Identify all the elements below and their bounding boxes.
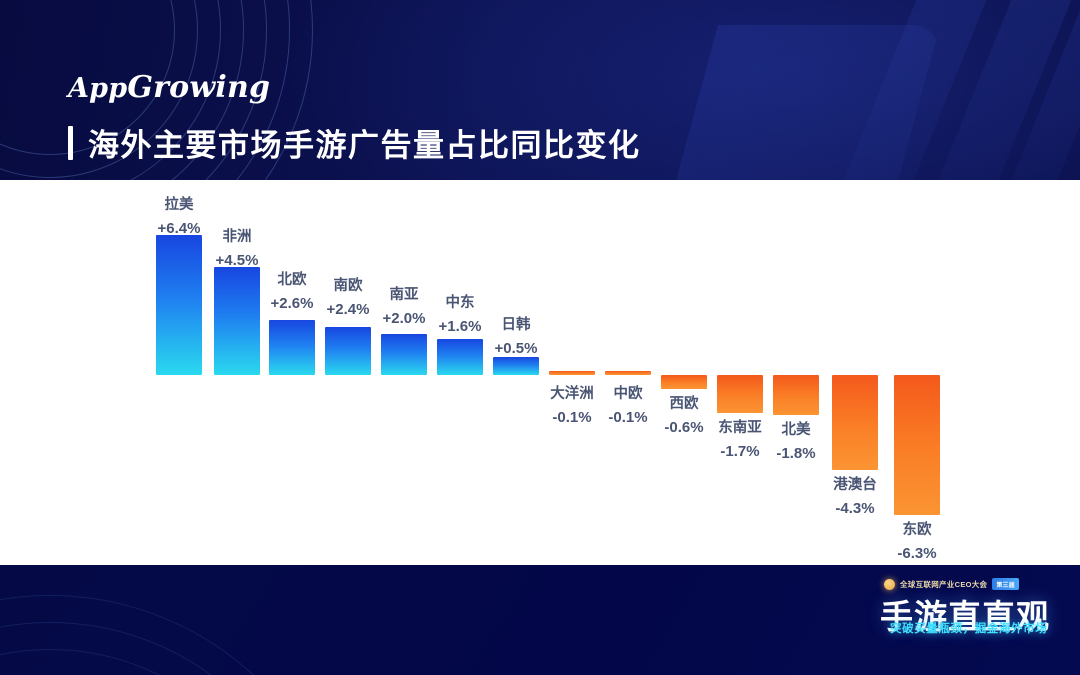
content-panel: 拉美+6.4%非洲+4.5%北欧+2.6%南欧+2.4%南亚+2.0%中东+1.… <box>0 180 1080 565</box>
bar-group[interactable]: 南亚+2.0% <box>375 180 433 565</box>
bar-value-label: +0.5% <box>487 339 545 359</box>
bar-group[interactable]: 港澳台-4.3% <box>826 180 884 565</box>
bar-value-label: -0.1% <box>599 408 657 428</box>
ceo-conference-text: 全球互联网产业CEO大会 <box>900 579 987 590</box>
bar-label: 南欧+2.4% <box>319 277 377 320</box>
bar-value-label: -0.1% <box>543 408 601 428</box>
chart-bar[interactable] <box>832 375 878 470</box>
bar-group[interactable]: 大洋洲-0.1% <box>543 180 601 565</box>
bar-label: 拉美+6.4% <box>150 196 208 239</box>
event-logo-tagline: 突破买量瓶颈，掘金海外市场 <box>890 620 1047 636</box>
bar-group[interactable]: 拉美+6.4% <box>150 180 208 565</box>
page-title-text: 海外主要市场手游广告量占比同比变化 <box>88 120 641 165</box>
bar-value-label: +4.5% <box>208 251 266 271</box>
bar-label: 中东+1.6% <box>431 294 489 337</box>
chart-bar[interactable] <box>549 371 595 375</box>
brand-app-text: App <box>68 73 127 104</box>
ceo-conference-banner: 全球互联网产业CEO大会 第三届 <box>884 578 1019 590</box>
bar-category-name: 中欧 <box>614 386 643 402</box>
bar-label: 北美-1.8% <box>767 421 825 464</box>
bar-label: 大洋洲-0.1% <box>543 385 601 428</box>
bar-label: 南亚+2.0% <box>375 286 433 329</box>
bar-value-label: +6.4% <box>150 219 208 239</box>
bar-group[interactable]: 中欧-0.1% <box>599 180 657 565</box>
chart-bar[interactable] <box>325 327 371 375</box>
bar-value-label: -1.8% <box>767 444 825 464</box>
bar-category-name: 南亚 <box>390 287 419 303</box>
chart-bar[interactable] <box>894 375 940 515</box>
chart-bar[interactable] <box>773 375 819 415</box>
bar-label: 西欧-0.6% <box>655 395 713 438</box>
chart-bar[interactable] <box>381 334 427 375</box>
bar-group[interactable]: 非洲+4.5% <box>208 180 266 565</box>
bar-category-name: 东南亚 <box>718 420 762 436</box>
bar-category-name: 北美 <box>782 422 811 438</box>
bar-category-name: 东欧 <box>903 522 932 538</box>
bar-label: 港澳台-4.3% <box>826 476 884 519</box>
bar-value-label: +2.4% <box>319 300 377 320</box>
bar-group[interactable]: 南欧+2.4% <box>319 180 377 565</box>
bar-label: 北欧+2.6% <box>263 271 321 314</box>
chart-bar[interactable] <box>214 267 260 375</box>
bar-label: 非洲+4.5% <box>208 228 266 271</box>
chart-bar[interactable] <box>437 339 483 375</box>
conference-dot-icon <box>884 579 895 590</box>
bar-group[interactable]: 西欧-0.6% <box>655 180 713 565</box>
chart-bar[interactable] <box>156 235 202 375</box>
bar-value-label: -0.6% <box>655 418 713 438</box>
bar-chart: 拉美+6.4%非洲+4.5%北欧+2.6%南欧+2.4%南亚+2.0%中东+1.… <box>0 180 1080 565</box>
chart-bar[interactable] <box>717 375 763 413</box>
bar-category-name: 港澳台 <box>833 477 877 493</box>
chart-bar[interactable] <box>605 371 651 375</box>
bar-category-name: 中东 <box>446 295 475 311</box>
bar-label: 东欧-6.3% <box>888 521 946 564</box>
bar-value-label: -4.3% <box>826 499 884 519</box>
chart-bar[interactable] <box>493 357 539 375</box>
bar-category-name: 大洋洲 <box>550 386 594 402</box>
bar-category-name: 北欧 <box>278 272 307 288</box>
page-title: 海外主要市场手游广告量占比同比变化 <box>68 120 641 165</box>
bar-group[interactable]: 北欧+2.6% <box>263 180 321 565</box>
bar-category-name: 拉美 <box>165 197 194 213</box>
bar-group[interactable]: 中东+1.6% <box>431 180 489 565</box>
footer-arc-decoration <box>0 585 360 675</box>
bar-value-label: +1.6% <box>431 317 489 337</box>
chart-bar[interactable] <box>269 320 315 375</box>
title-accent-bar <box>68 126 73 160</box>
bar-label: 东南亚-1.7% <box>711 419 769 462</box>
brand-growing-text: Growing <box>127 70 270 105</box>
bar-group[interactable]: 北美-1.8% <box>767 180 825 565</box>
bar-label: 日韩+0.5% <box>487 316 545 359</box>
bar-group[interactable]: 东欧-6.3% <box>888 180 946 565</box>
bar-value-label: +2.0% <box>375 309 433 329</box>
bar-group[interactable]: 日韩+0.5% <box>487 180 545 565</box>
bar-category-name: 日韩 <box>502 317 531 333</box>
chart-bar[interactable] <box>661 375 707 389</box>
bar-category-name: 西欧 <box>670 396 699 412</box>
bar-label: 中欧-0.1% <box>599 385 657 428</box>
conference-edition-badge: 第三届 <box>992 578 1019 590</box>
bar-group[interactable]: 东南亚-1.7% <box>711 180 769 565</box>
bar-category-name: 南欧 <box>334 278 363 294</box>
bar-value-label: -6.3% <box>888 544 946 564</box>
bar-value-label: -1.7% <box>711 442 769 462</box>
page-header: AppGrowing 海外主要市场手游广告量占比同比变化 <box>0 0 1080 180</box>
bar-value-label: +2.6% <box>263 294 321 314</box>
bar-category-name: 非洲 <box>223 229 252 245</box>
appgrowing-logo: AppGrowing <box>68 70 270 105</box>
